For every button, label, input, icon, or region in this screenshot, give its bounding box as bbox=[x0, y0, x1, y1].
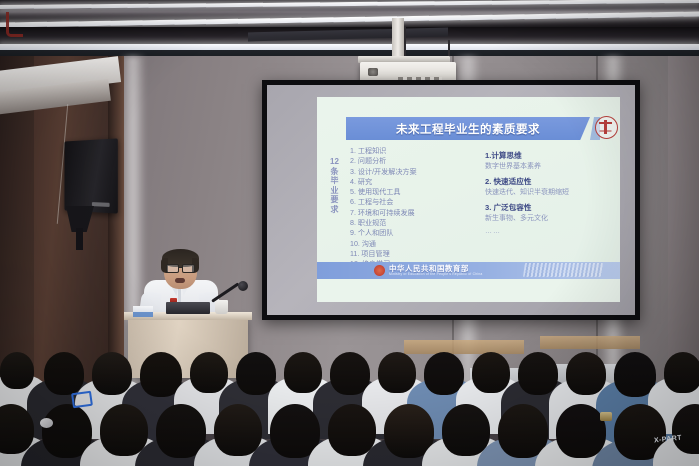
audience: X-PART bbox=[0, 0, 699, 466]
audience-head bbox=[378, 352, 416, 393]
lecture-hall-screenshot: 未来工程毕业生的素质要求 12条毕业要求 1. 工程知识2. 问题分析3. 设计… bbox=[0, 0, 699, 466]
audience-head bbox=[214, 404, 262, 456]
audience-head bbox=[284, 352, 322, 393]
audience-head bbox=[328, 404, 376, 456]
gold-hair-clip-icon bbox=[600, 412, 612, 421]
audience-head bbox=[190, 352, 228, 393]
audience-head bbox=[92, 352, 132, 395]
audience-head bbox=[664, 352, 699, 393]
audience-head bbox=[0, 352, 34, 389]
audience-head bbox=[442, 404, 490, 456]
row-desk bbox=[404, 340, 524, 354]
audience-head bbox=[100, 404, 148, 456]
blue-hair-clip-icon bbox=[71, 391, 93, 409]
row-desk bbox=[540, 336, 640, 349]
audience-head bbox=[472, 352, 510, 393]
audience-head bbox=[518, 352, 558, 395]
audience-head bbox=[566, 352, 606, 395]
audience-head bbox=[556, 404, 606, 458]
audience-head bbox=[44, 352, 84, 395]
white-scrunchie-icon bbox=[40, 418, 53, 428]
